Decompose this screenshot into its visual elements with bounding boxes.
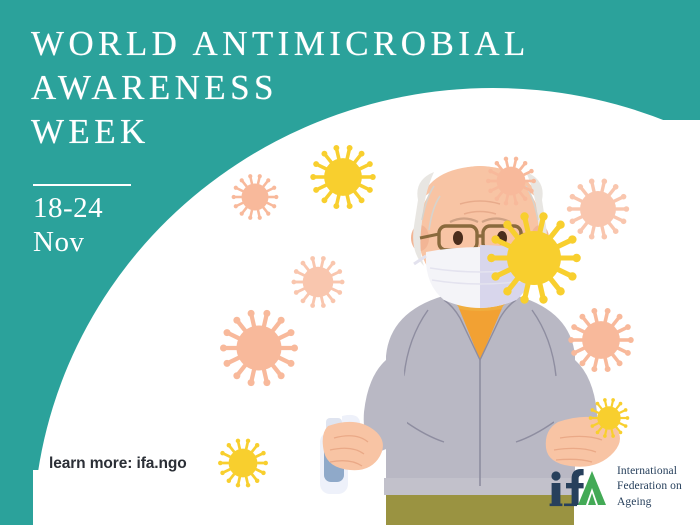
page-title: WORLD ANTIMICROBIAL AWARENESS WEEK <box>31 22 681 154</box>
ifa-logo[interactable]: International Federation on Ageing <box>548 462 682 512</box>
learn-more-link[interactable]: learn more: ifa.ngo <box>49 455 187 473</box>
ifa-logo-mark <box>548 462 608 512</box>
face-mask <box>414 245 546 308</box>
event-dates: 18-24 Nov <box>33 192 203 260</box>
poster-canvas: WORLD ANTIMICROBIAL AWARENESS WEEK 18-24… <box>0 0 700 525</box>
date-divider <box>33 184 131 186</box>
ifa-logo-organization: International Federation on Ageing <box>617 464 682 510</box>
date-block: 18-24 Nov <box>33 184 203 260</box>
